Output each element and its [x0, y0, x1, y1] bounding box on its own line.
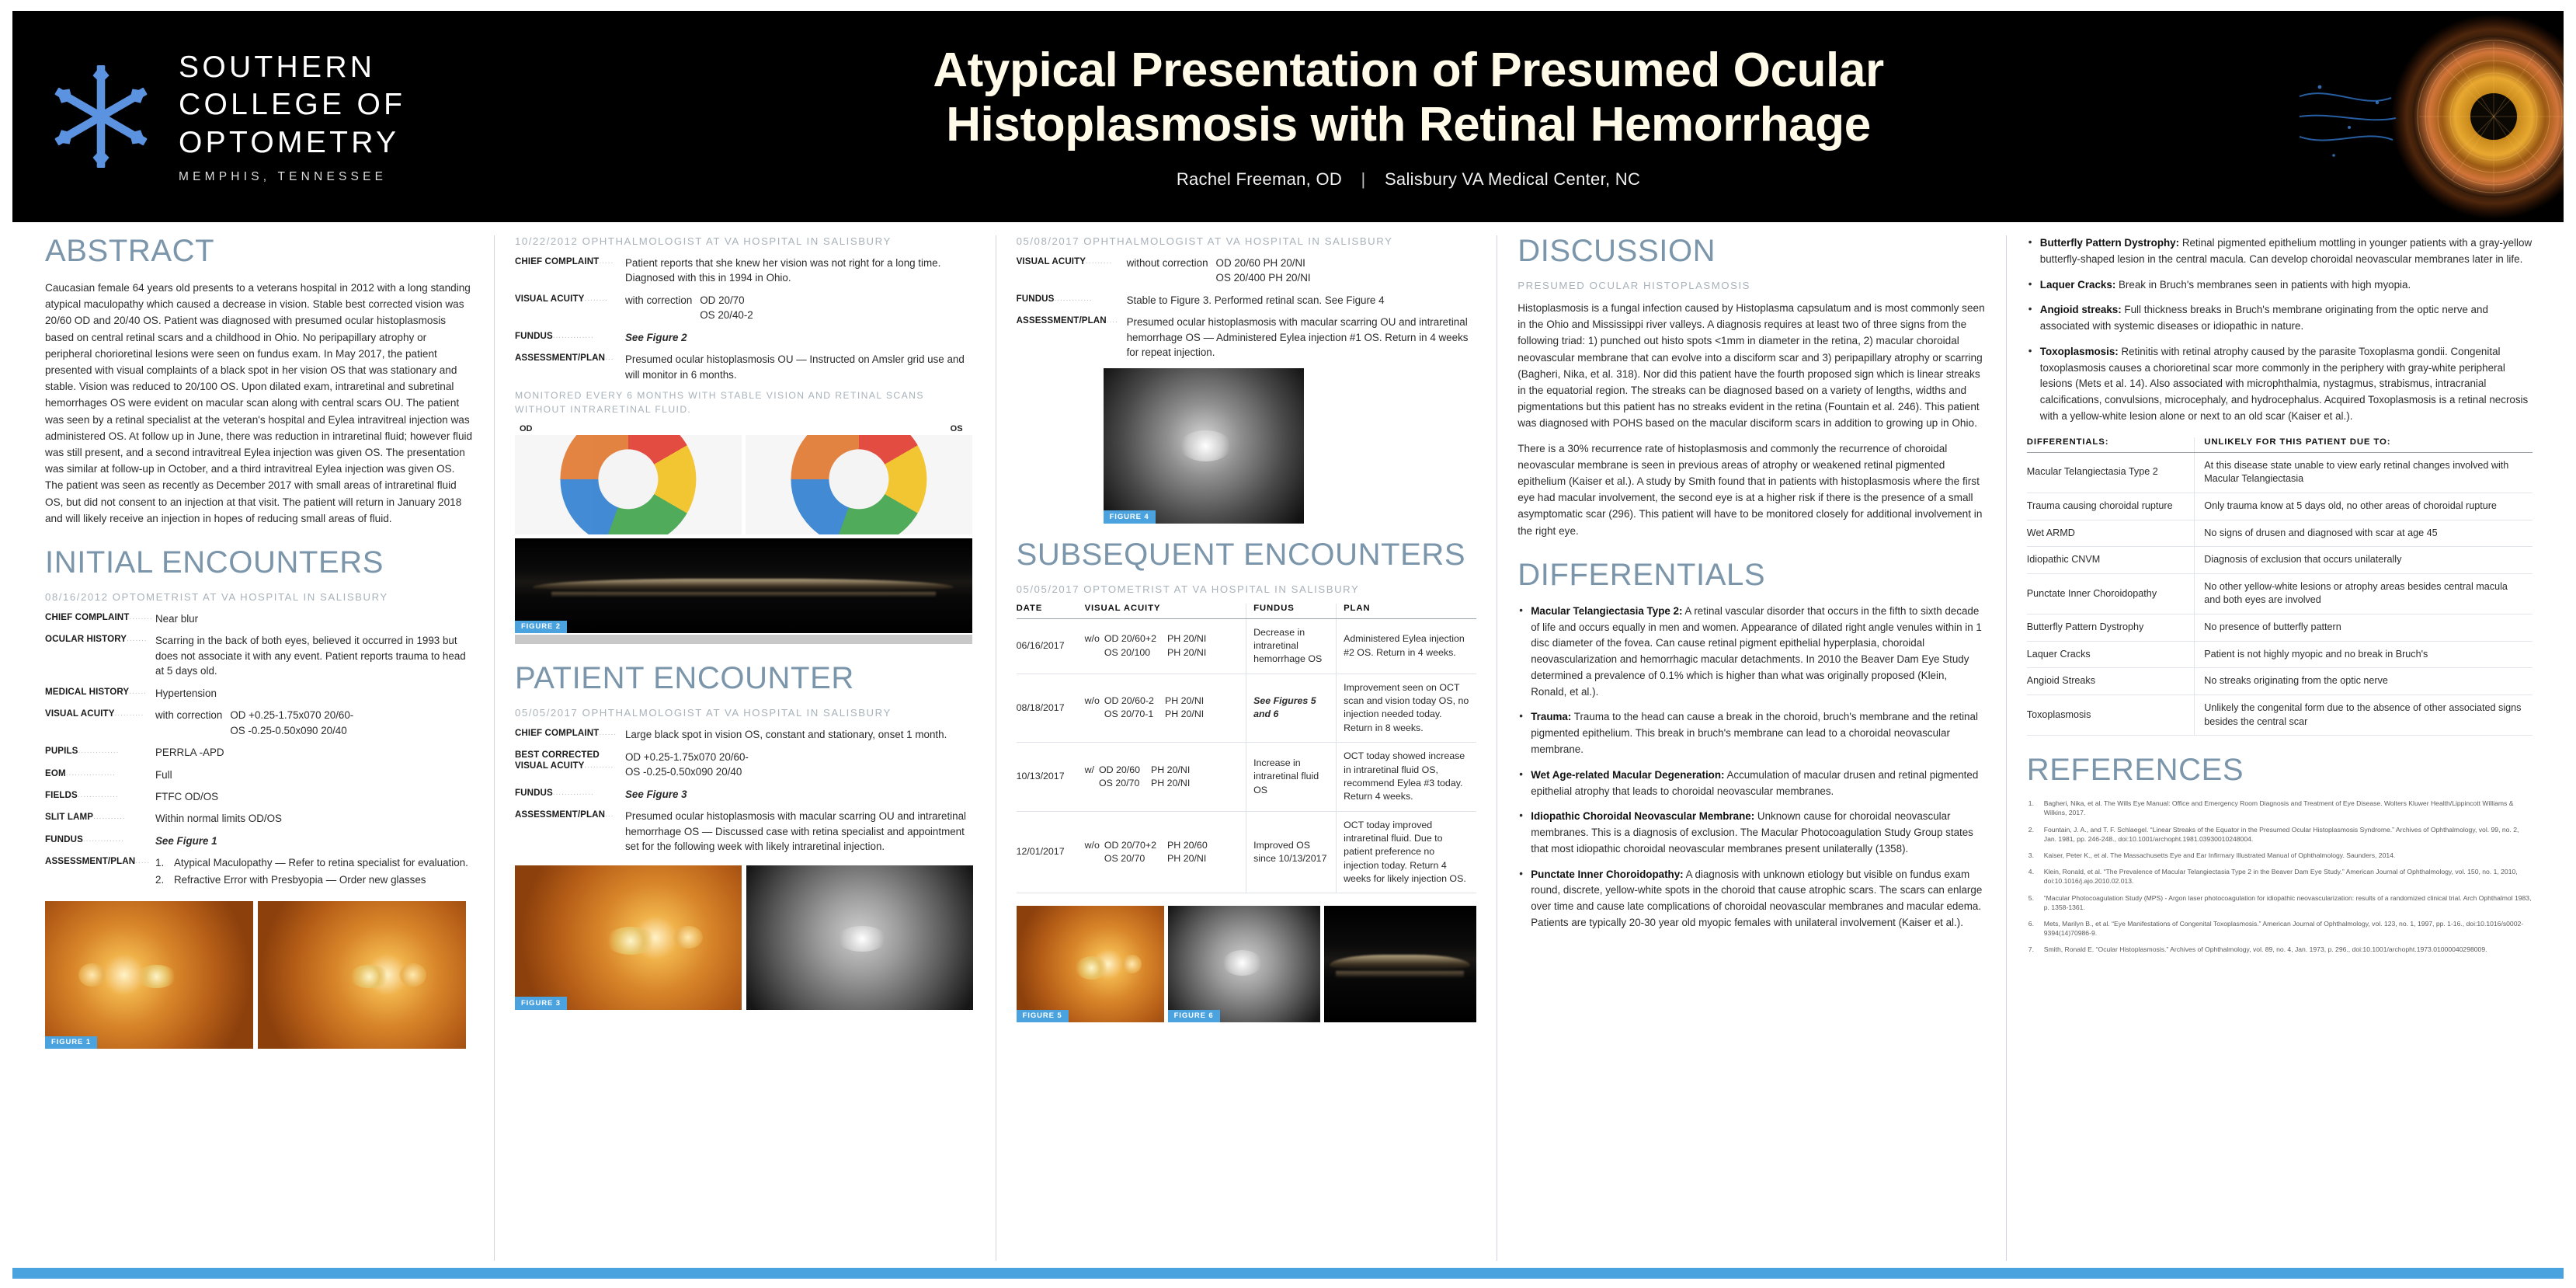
discussion-subheading: PRESUMED OCULAR HISTOPLASMOSIS — [1517, 280, 1986, 291]
dot-leader: ........ — [585, 294, 608, 305]
cell-differential-name: Punctate Inner Choroidopathy — [2027, 573, 2195, 614]
column-second-visit-patient-encounter: 10/22/2012 OPHTHALMOLOGIST AT VA HOSPITA… — [494, 235, 996, 1261]
topo-color-wheel — [791, 435, 926, 534]
dot-leader: ... — [605, 809, 614, 821]
field-label-text: EOM — [45, 768, 66, 778]
cell-plan: Improvement seen on OCT scan and vision … — [1337, 674, 1477, 742]
field-label-text: VISUAL ACUITY — [1017, 256, 1086, 266]
differential-item-laquer-cracks: Laquer Cracks: Break in Bruch's membrane… — [2027, 277, 2533, 294]
va-line-os: OS 20/40-2 — [700, 308, 753, 322]
cell-date: 10/13/2017 — [1017, 743, 1085, 811]
fundus-photo-os-grayscale — [746, 865, 973, 1010]
third-visit-fields: VISUAL ACUITY......... without correctio… — [1017, 256, 1477, 360]
figure-caption: FIGURE 5 — [1017, 1010, 1069, 1023]
field-value: Scarring in the back of both eyes, belie… — [155, 633, 474, 678]
cell-visual-acuity: w/o OD 20/70+2 OS 20/70 PH 20/60 PH 20/N… — [1085, 811, 1246, 893]
field-fundus: FUNDUS.............. See Figure 2 — [515, 330, 975, 345]
patient-encounter-fields: CHIEF COMPLAINT...... Large black spot i… — [515, 727, 975, 854]
field-visual-acuity: VISUAL ACUITY......... without correctio… — [1017, 256, 1477, 286]
field-assessment-plan: ASSESSMENT/PLAN... Presumed ocular histo… — [515, 352, 975, 382]
table-row: Trauma causing choroidal rupture Only tr… — [2027, 493, 2533, 520]
table-row: 12/01/2017 w/o OD 20/70+2 OS 20/70 PH 20… — [1017, 811, 1477, 893]
figure-2-footer-strip — [515, 635, 972, 644]
eye-graphic-icon — [2300, 11, 2564, 222]
differential-term: Laquer Cracks: — [2040, 279, 2116, 291]
cell-differential-name: Macular Telangiectasia Type 2 — [2027, 452, 2195, 493]
cell-plan: OCT today improved intraretinal fluid. D… — [1337, 811, 1477, 893]
va-correction-note: with correction — [625, 293, 692, 323]
figure-3-row: FIGURE 3 — [515, 865, 975, 1010]
field-visual-acuity: VISUAL ACUITY.......... with correction … — [45, 708, 474, 738]
table-row: Butterfly Pattern Dystrophy No presence … — [2027, 614, 2533, 642]
section-heading-patient-encounter: PATIENT ENCOUNTER — [515, 663, 975, 694]
title-block: Atypical Presentation of Presumed Ocular… — [509, 11, 2564, 222]
subsequent-visit-header: 05/05/2017 OPTOMETRIST AT VA HOSPITAL IN… — [1017, 583, 1477, 595]
field-label-text: OCULAR HISTORY — [45, 634, 127, 644]
optic-disc — [1122, 955, 1142, 973]
cell-reason: No presence of butterfly pattern — [2195, 614, 2533, 642]
oct-b-scan — [1324, 906, 1476, 1022]
col-header-unlikely-reason: UNLIKELY FOR THIS PATIENT DUE TO: — [2195, 437, 2533, 453]
references-list: Bagheri, Nika, et al. The Wills Eye Manu… — [2027, 799, 2533, 954]
macular-scar — [137, 965, 176, 988]
field-fields: FIELDS.............. FTFC OD/OS — [45, 789, 474, 804]
footer-accent-bar — [12, 1268, 2564, 1279]
figure-caption: FIGURE 2 — [515, 621, 567, 634]
va-os: OS 20/70-1 — [1104, 708, 1154, 721]
field-label-text: VISUAL ACUITY — [515, 294, 585, 304]
figure-6b-image — [1324, 906, 1476, 1022]
field-value: Hypertension — [155, 686, 474, 701]
cell-reason: No signs of drusen and diagnosed with sc… — [2195, 520, 2533, 547]
macular-scar — [606, 927, 655, 954]
field-value: Presumed ocular histoplasmosis with macu… — [625, 809, 975, 854]
field-label-text: ASSESSMENT/PLAN — [45, 856, 135, 866]
table-header-row: DIFFERENTIALS: UNLIKELY FOR THIS PATIENT… — [2027, 437, 2533, 453]
cell-fundus: Increase in intraretinal fluid OS — [1246, 743, 1337, 811]
differential-term: Butterfly Pattern Dystrophy: — [2040, 237, 2179, 249]
field-label-text: CHIEF COMPLAINT — [45, 612, 129, 622]
reference-item: Smith, Ronald E. “Ocular Histoplasmosis.… — [2027, 945, 2533, 954]
cell-date: 06/16/2017 — [1017, 618, 1085, 674]
dot-leader: ........ — [129, 612, 152, 624]
second-visit-header: 10/22/2012 OPHTHALMOLOGIST AT VA HOSPITA… — [515, 235, 975, 247]
table-row: 10/13/2017 w/ OD 20/60 OS 20/70 PH 20/NI — [1017, 743, 1477, 811]
cell-fundus: Improved OS since 10/13/2017 — [1246, 811, 1337, 893]
discussion-paragraph-2: There is a 30% recurrence rate of histop… — [1517, 440, 1986, 539]
field-value: Stable to Figure 3. Performed retinal sc… — [1127, 293, 1477, 308]
eye-illustration — [2300, 11, 2564, 222]
section-heading-references: REFERENCES — [2027, 754, 2533, 785]
ph-os: PH 20/NI — [1167, 646, 1206, 660]
differential-term: Toxoplasmosis: — [2040, 346, 2119, 357]
logo-location: MEMPHIS, TENNESSEE — [179, 170, 405, 184]
macular-scar — [349, 965, 389, 988]
field-slit-lamp: SLIT LAMP........... Within normal limit… — [45, 811, 474, 826]
cell-plan: Administered Eylea injection #2 OS. Retu… — [1337, 618, 1477, 674]
dot-leader: ..... — [599, 256, 614, 268]
figure-caption: FIGURE 1 — [45, 1036, 97, 1050]
col-header-visual-acuity: VISUAL ACUITY — [1085, 604, 1246, 619]
cell-reason: Diagnosis of exclusion that occurs unila… — [2195, 547, 2533, 574]
snowflake-logo-icon — [50, 63, 152, 170]
fundus-photo-od — [45, 901, 253, 1049]
table-row: Macular Telangiectasia Type 2 At this di… — [2027, 452, 2533, 493]
field-value: PERRLA -APD — [155, 745, 474, 760]
abstract-text: Caucasian female 64 years old presents t… — [45, 280, 474, 527]
field-fundus: FUNDUS.............. See Figure 1 — [45, 834, 474, 848]
logo-wordmark: SOUTHERN COLLEGE OF OPTOMETRY MEMPHIS, T… — [179, 49, 405, 184]
poster-header: SOUTHERN COLLEGE OF OPTOMETRY MEMPHIS, T… — [12, 11, 2564, 222]
discussion-paragraph-1: Histoplasmosis is a fungal infection cau… — [1517, 300, 1986, 432]
field-chief-complaint: CHIEF COMPLAINT...... Large black spot i… — [515, 727, 975, 742]
section-heading-discussion: DISCUSSION — [1517, 235, 1986, 266]
column-abstract-initial: ABSTRACT Caucasian female 64 years old p… — [12, 235, 494, 1261]
differential-term: Punctate Inner Choroidopathy: — [1531, 869, 1683, 880]
figure-2-oct-scan: FIGURE 2 — [515, 538, 972, 633]
va-correction: w/o — [1085, 694, 1100, 722]
affiliation: Salisbury VA Medical Center, NC — [1385, 169, 1640, 189]
table-row: Punctate Inner Choroidopathy No other ye… — [2027, 573, 2533, 614]
poster-body: ABSTRACT Caucasian female 64 years old p… — [12, 235, 2564, 1261]
cell-reason: Patient is not highly myopic and no brea… — [2195, 641, 2533, 668]
cell-plan: OCT today showed increase in intraretina… — [1337, 743, 1477, 811]
cell-visual-acuity: w/o OD 20/60-2 OS 20/70-1 PH 20/NI PH 20… — [1085, 674, 1246, 742]
figure-6-image: FIGURE 6 — [1168, 906, 1320, 1022]
field-assessment-plan: ASSESSMENT/PLAN.... Presumed ocular hist… — [1017, 315, 1477, 360]
differential-item-wet-armd: Wet Age-related Macular Degeneration: Ac… — [1517, 768, 1986, 800]
table-header-row: DATE VISUAL ACUITY FUNDUS PLAN — [1017, 604, 1477, 619]
poster-title: Atypical Presentation of Presumed Ocular… — [933, 44, 1883, 152]
fundus-photo-os-color — [515, 865, 742, 1010]
figure-3-fundus-redfree — [746, 865, 973, 1010]
figure-2-os-label: OS — [951, 424, 963, 433]
topo-map-os — [746, 435, 972, 534]
topography-os — [746, 435, 972, 534]
differential-item-butterfly-pattern-dystrophy: Butterfly Pattern Dystrophy: Retinal pig… — [2027, 235, 2533, 268]
table-row: 06/16/2017 w/o OD 20/60+2 OS 20/100 PH 2… — [1017, 618, 1477, 674]
poster-title-line-2: Histoplasmosis with Retinal Hemorrhage — [933, 98, 1883, 152]
col-header-date: DATE — [1017, 604, 1085, 619]
patient-encounter-visit-header: 05/05/2017 OPHTHALMOLOGIST AT VA HOSPITA… — [515, 707, 975, 719]
field-value: Patient reports that she knew her vision… — [625, 256, 975, 286]
fundus-photo-grayscale — [1168, 906, 1320, 1022]
field-label-text: FUNDUS — [515, 788, 553, 798]
field-value: Presumed ocular histoplasmosis with macu… — [1127, 315, 1477, 360]
va-line-od: OD 20/60 PH 20/NI — [1216, 256, 1311, 270]
ph-os: PH 20/NI — [1165, 708, 1204, 721]
dot-leader: .......... — [585, 761, 614, 771]
field-value: Within normal limits OD/OS — [155, 811, 474, 826]
va-correction: w/o — [1085, 839, 1100, 866]
subsequent-encounters-table: DATE VISUAL ACUITY FUNDUS PLAN 06/16/201… — [1017, 604, 1477, 894]
field-value: FTFC OD/OS — [155, 789, 474, 804]
reference-item: Fountain, J. A., and T. F. Schlaegel. “L… — [2027, 825, 2533, 844]
cell-reason: Only trauma know at 5 days old, no other… — [2195, 493, 2533, 520]
poster-title-line-1: Atypical Presentation of Presumed Ocular — [933, 44, 1883, 98]
reference-item: Bagheri, Nika, et al. The Wills Eye Manu… — [2027, 799, 2533, 817]
cell-visual-acuity: w/o OD 20/60+2 OS 20/100 PH 20/NI PH 20/… — [1085, 618, 1246, 674]
col-header-plan: PLAN — [1337, 604, 1477, 619]
cell-fundus: See Figures 5 and 6 — [1246, 674, 1337, 742]
va-correction-note: without correction — [1127, 256, 1208, 286]
reference-item: Mets, Marilyn B., et al. “Eye Manifestat… — [2027, 919, 2533, 938]
differential-item-idiopathic-cnvm: Idiopathic Choroidal Neovascular Membran… — [1517, 809, 1986, 857]
va-od: OD 20/60-2 — [1104, 694, 1154, 708]
cell-differential-name: Trauma causing choroidal rupture — [2027, 493, 2195, 520]
differential-text: Trauma to the head can cause a break in … — [1531, 711, 1978, 755]
figure-caption: FIGURE 4 — [1104, 510, 1156, 524]
optic-disc — [78, 963, 106, 987]
cell-date: 12/01/2017 — [1017, 811, 1085, 893]
figure-5-image: FIGURE 5 — [1017, 906, 1164, 1022]
table-row: Angioid Streaks No streaks originating f… — [2027, 668, 2533, 695]
figure-2-topo-row — [515, 435, 975, 534]
va-od: OD 20/60+2 — [1104, 632, 1156, 646]
cell-reason: At this disease state unable to view ear… — [2195, 452, 2533, 493]
figure-caption: FIGURE 3 — [515, 997, 567, 1010]
cell-visual-acuity: w/ OD 20/60 OS 20/70 PH 20/NI PH 20/NI — [1085, 743, 1246, 811]
column-differentials-continued-references: Butterfly Pattern Dystrophy: Retinal pig… — [2006, 235, 2564, 1261]
va-correction: w/o — [1085, 632, 1100, 660]
table-row: Laquer Cracks Patient is not highly myop… — [2027, 641, 2533, 668]
table-row: Wet ARMD No signs of drusen and diagnose… — [2027, 520, 2533, 547]
dot-leader: ......... — [1086, 256, 1112, 268]
poster-byline: Rachel Freeman, OD | Salisbury VA Medica… — [1177, 169, 1640, 190]
differential-term: Idiopathic Choroidal Neovascular Membran… — [1531, 810, 1754, 822]
differentials-comparison-table: DIFFERENTIALS: UNLIKELY FOR THIS PATIENT… — [2027, 437, 2533, 736]
differential-item-macular-telangiectasia: Macular Telangiectasia Type 2: A retinal… — [1517, 604, 1986, 701]
section-heading-abstract: ABSTRACT — [45, 235, 474, 266]
cell-fundus: Decrease in intraretinal hemorrhage OS — [1246, 618, 1337, 674]
dot-leader: .............. — [78, 790, 119, 802]
institution-logo: SOUTHERN COLLEGE OF OPTOMETRY MEMPHIS, T… — [12, 11, 509, 222]
differential-item-toxoplasmosis: Toxoplasmosis: Retinitis with retinal at… — [2027, 344, 2533, 425]
dot-leader: ................. — [66, 768, 116, 780]
topography-od — [515, 435, 742, 534]
field-value: See Figure 3 — [625, 787, 975, 802]
field-label-text: ASSESSMENT/PLAN — [515, 353, 605, 363]
assessment-plan-list: Atypical Maculopathy — Refer to retina s… — [155, 855, 474, 887]
field-label-text: FUNDUS — [1017, 294, 1055, 304]
monitoring-note: MONITORED EVERY 6 MONTHS WITH STABLE VIS… — [515, 389, 975, 416]
table-row: Idiopathic CNVM Diagnosis of exclusion t… — [2027, 547, 2533, 574]
plan-item: Refractive Error with Presbyopia — Order… — [155, 872, 474, 887]
col-header-differentials: DIFFERENTIALS: — [2027, 437, 2195, 453]
field-ocular-history: OCULAR HISTORY....... Scarring in the ba… — [45, 633, 474, 678]
differential-item-angioid-streaks: Angioid streaks: Full thickness breaks i… — [2027, 302, 2533, 335]
cell-reason: Unlikely the congenital form due to the … — [2195, 694, 2533, 735]
field-value: See Figure 2 — [625, 330, 975, 345]
dot-leader: ...... — [599, 728, 617, 740]
dot-leader: .............. — [83, 834, 124, 846]
optic-disc — [399, 963, 426, 987]
retinal-scan-image — [1104, 368, 1304, 524]
dot-leader: ...... — [129, 687, 147, 698]
ph-os: PH 20/NI — [1167, 852, 1208, 865]
figures-5-6-row: FIGURE 5 FIGURE 6 — [1017, 906, 1477, 1022]
figure-2-od-label: OD — [520, 424, 533, 433]
differential-item-punctate-inner-choroidopathy: Punctate Inner Choroidopathy: A diagnosi… — [1517, 867, 1986, 931]
fundus-photo-color — [1017, 906, 1164, 1022]
field-eom: EOM................. Full — [45, 768, 474, 782]
va-od: OD 20/60 — [1099, 764, 1140, 777]
initial-visit-header: 08/16/2012 OPTOMETRIST AT VA HOSPITAL IN… — [45, 591, 474, 603]
field-label-text: CHIEF COMPLAINT — [515, 728, 599, 738]
table-row: Toxoplasmosis Unlikely the congenital fo… — [2027, 694, 2533, 735]
ph-od: PH 20/NI — [1151, 764, 1190, 777]
cell-date: 08/18/2017 — [1017, 674, 1085, 742]
second-visit-fields: CHIEF COMPLAINT..... Patient reports tha… — [515, 256, 975, 382]
section-heading-subsequent-encounters: SUBSEQUENT ENCOUNTERS — [1017, 539, 1477, 570]
dot-leader: .............. — [553, 788, 594, 799]
ph-od: PH 20/NI — [1165, 694, 1204, 708]
field-visual-acuity: VISUAL ACUITY........ with correction OD… — [515, 293, 975, 323]
oct-b-scan — [515, 538, 972, 633]
va-os: OS 20/70 — [1104, 852, 1156, 865]
dot-leader: ... — [605, 353, 614, 364]
figure-4-oct-image: FIGURE 4 — [1104, 368, 1304, 524]
author-name: Rachel Freeman, OD — [1177, 169, 1342, 189]
ph-os: PH 20/NI — [1151, 777, 1190, 790]
field-value: See Figure 1 — [155, 834, 474, 848]
field-chief-complaint: CHIEF COMPLAINT........ Near blur — [45, 611, 474, 626]
macular-scar — [1076, 956, 1108, 980]
logo-line-1: SOUTHERN — [179, 49, 405, 86]
cell-differential-name: Idiopathic CNVM — [2027, 547, 2195, 574]
differential-text: Break in Bruch's membranes seen in patie… — [2115, 279, 2411, 291]
field-label-text: FIELDS — [45, 790, 78, 800]
field-label-text: ASSESSMENT/PLAN — [1017, 315, 1107, 325]
figure-1-row: FIGURE 1 — [45, 901, 474, 1049]
section-heading-differentials: DIFFERENTIALS — [1517, 559, 1986, 590]
poster-root: SOUTHERN COLLEGE OF OPTOMETRY MEMPHIS, T… — [0, 0, 2576, 1288]
reference-item: “Macular Photocoagulation Study (MPS) - … — [2027, 893, 2533, 912]
field-pupils: PUPILS.............. PERRLA -APD — [45, 745, 474, 760]
scan-lesion — [1180, 430, 1232, 461]
cell-reason: No other yellow-white lesions or atrophy… — [2195, 573, 2533, 614]
cell-differential-name: Butterfly Pattern Dystrophy — [2027, 614, 2195, 642]
table-row: 08/18/2017 w/o OD 20/60-2 OS 20/70-1 PH … — [1017, 674, 1477, 742]
field-assessment-plan: ASSESSMENT/PLAN..... Atypical Maculopath… — [45, 855, 474, 889]
differentials-list: Macular Telangiectasia Type 2: A retinal… — [1517, 604, 1986, 931]
logo-line-3: OPTOMETRY — [179, 124, 405, 162]
va-os: OS 20/100 — [1104, 646, 1156, 660]
dot-leader: .... — [1107, 315, 1118, 327]
va-line-od: OD +0.25-1.75x070 20/60- — [230, 708, 353, 722]
field-value: Full — [155, 768, 474, 782]
figure-1-od-image: FIGURE 1 — [45, 901, 253, 1049]
cell-differential-name: Wet ARMD — [2027, 520, 2195, 547]
va-line-os: OS -0.25-0.50x090 20/40 — [230, 723, 353, 738]
va-line-os: OS -0.25-0.50x090 20/40 — [625, 764, 975, 779]
field-label-text: PUPILS — [45, 746, 78, 756]
field-label-text: SLIT LAMP — [45, 812, 93, 822]
cell-differential-name: Angioid Streaks — [2027, 668, 2195, 695]
logo-line-2: COLLEGE OF — [179, 86, 405, 124]
dot-leader: ........... — [93, 812, 126, 823]
byline-separator: | — [1347, 169, 1380, 190]
optic-disc — [673, 926, 703, 949]
dot-leader: .............. — [78, 746, 119, 757]
field-fundus: FUNDUS.............. See Figure 3 — [515, 787, 975, 802]
differential-term: Angioid streaks: — [2040, 304, 2122, 315]
va-od: OD 20/70+2 — [1104, 839, 1156, 852]
differential-term: Macular Telangiectasia Type 2: — [1531, 605, 1682, 617]
fundus-photo-os — [258, 901, 466, 1049]
cell-differential-name: Laquer Cracks — [2027, 641, 2195, 668]
dot-leader: .......... — [115, 708, 144, 720]
figure-2-oct-row: FIGURE 2 — [515, 538, 975, 633]
field-assessment-plan: ASSESSMENT/PLAN... Presumed ocular histo… — [515, 809, 975, 854]
lesion-region — [1222, 950, 1262, 976]
cell-reason: No streaks originating from the optic ne… — [2195, 668, 2533, 695]
dot-leader: ............. — [1054, 294, 1092, 305]
cell-differential-name: Toxoplasmosis — [2027, 694, 2195, 735]
field-value: Large black spot in vision OS, constant … — [625, 727, 975, 742]
field-fundus: FUNDUS............. Stable to Figure 3. … — [1017, 293, 1477, 308]
ph-od: PH 20/60 — [1167, 839, 1208, 852]
hemorrhage-region — [837, 926, 887, 952]
reference-item: Klein, Ronald, et al. “The Prevalence of… — [2027, 867, 2533, 886]
column-third-visit-subsequent: 05/08/2017 OPHTHALMOLOGIST AT VA HOSPITA… — [996, 235, 1497, 1261]
section-heading-initial-encounters: INITIAL ENCOUNTERS — [45, 547, 474, 578]
field-best-corrected-va: BEST CORRECTED VISUAL ACUITY .......... … — [515, 750, 975, 780]
figure-1-os-image — [258, 901, 466, 1049]
differential-term: Trauma: — [1531, 711, 1571, 722]
va-line-od: OD 20/70 — [700, 293, 753, 308]
column-discussion-differentials: DISCUSSION PRESUMED OCULAR HISTOPLASMOSI… — [1497, 235, 2006, 1261]
va-os: OS 20/70 — [1099, 777, 1140, 790]
topo-map-od — [515, 435, 742, 534]
third-visit-header: 05/08/2017 OPHTHALMOLOGIST AT VA HOSPITA… — [1017, 235, 1477, 247]
ph-od: PH 20/NI — [1167, 632, 1206, 646]
va-correction-note: with correction — [155, 708, 222, 738]
field-label-text: CHIEF COMPLAINT — [515, 256, 599, 266]
field-medical-history: MEDICAL HISTORY...... Hypertension — [45, 686, 474, 701]
topo-color-wheel — [560, 435, 696, 534]
field-value: Near blur — [155, 611, 474, 626]
field-label-text: ASSESSMENT/PLAN — [515, 809, 605, 820]
va-correction: w/ — [1085, 764, 1094, 791]
differential-item-trauma: Trauma: Trauma to the head can cause a b… — [1517, 709, 1986, 757]
figure-caption: FIGURE 6 — [1168, 1010, 1220, 1023]
figure-2-block: OD OS FIGURE 2 — [515, 424, 975, 644]
col-header-fundus: FUNDUS — [1246, 604, 1337, 619]
differential-term: Wet Age-related Macular Degeneration: — [1531, 769, 1724, 781]
field-label-text: MEDICAL HISTORY — [45, 687, 129, 697]
figure-3-fundus-color: FIGURE 3 — [515, 865, 742, 1010]
dot-leader: ....... — [127, 634, 147, 646]
field-label-text: VISUAL ACUITY — [45, 708, 115, 719]
reference-item: Kaiser, Peter K., et al. The Massachuset… — [2027, 851, 2533, 860]
dot-leader: .............. — [553, 331, 594, 343]
va-line-od: OD +0.25-1.75x070 20/60- — [625, 750, 975, 764]
field-label-text: FUNDUS — [515, 331, 553, 341]
plan-item: Atypical Maculopathy — Refer to retina s… — [155, 855, 474, 870]
field-value: Presumed ocular histoplasmosis OU — Inst… — [625, 352, 975, 382]
va-line-os: OS 20/400 PH 20/NI — [1216, 270, 1311, 285]
differential-text: A retinal vascular disorder that occurs … — [1531, 605, 1982, 698]
initial-encounter-fields: CHIEF COMPLAINT........ Near blur OCULAR… — [45, 611, 474, 889]
figure-4-row: FIGURE 4 — [1017, 368, 1477, 524]
field-label-text: FUNDUS — [45, 834, 83, 844]
dot-leader: ..... — [135, 856, 150, 868]
differentials-list-continued: Butterfly Pattern Dystrophy: Retinal pig… — [2027, 235, 2533, 425]
field-chief-complaint: CHIEF COMPLAINT..... Patient reports tha… — [515, 256, 975, 286]
